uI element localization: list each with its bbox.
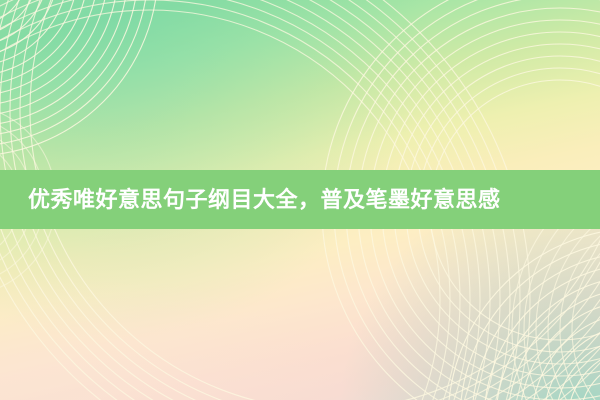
arc-group-top-left [0, 0, 158, 156]
title-band: 优秀唯好意思句子纲目大全，普及笔墨好意思感 [0, 170, 600, 229]
banner-image: 优秀唯好意思句子纲目大全，普及笔墨好意思感 [0, 0, 600, 400]
banner-title: 优秀唯好意思句子纲目大全，普及笔墨好意思感 [28, 189, 501, 211]
